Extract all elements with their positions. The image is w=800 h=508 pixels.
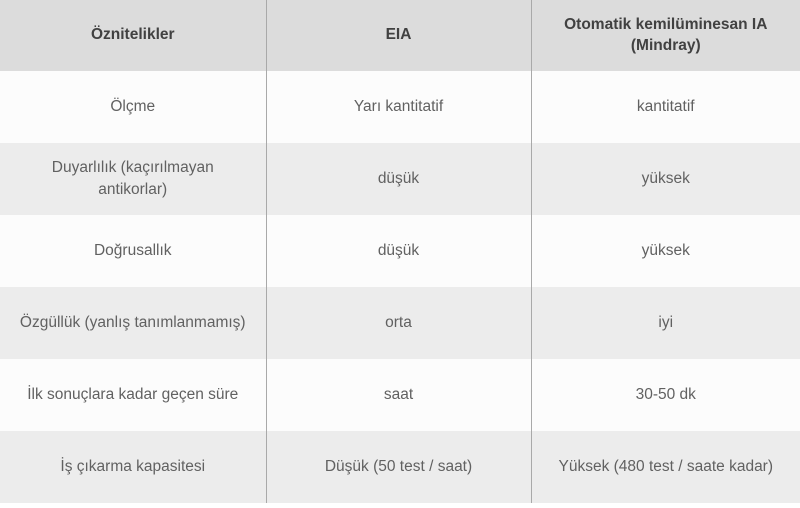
table-header: Öznitelikler EIA Otomatik kemilüminesan …: [0, 0, 800, 71]
cell-clia: iyi: [531, 287, 800, 359]
column-header-attribute: Öznitelikler: [0, 0, 266, 71]
cell-attribute: Duyarlılık (kaçırılmayan antikorlar): [0, 143, 266, 215]
cell-clia: Yüksek (480 test / saate kadar): [531, 431, 800, 503]
table-row: Duyarlılık (kaçırılmayan antikorlar) düş…: [0, 143, 800, 215]
cell-attribute: Özgüllük (yanlış tanımlanmamış): [0, 287, 266, 359]
cell-attribute: Ölçme: [0, 71, 266, 143]
cell-eia: Düşük (50 test / saat): [266, 431, 531, 503]
column-header-clia: Otomatik kemilüminesan IA (Mindray): [531, 0, 800, 71]
column-header-eia: EIA: [266, 0, 531, 71]
cell-eia: Yarı kantitatif: [266, 71, 531, 143]
table-header-row: Öznitelikler EIA Otomatik kemilüminesan …: [0, 0, 800, 71]
table-row: İlk sonuçlara kadar geçen süre saat 30-5…: [0, 359, 800, 431]
cell-clia: 30-50 dk: [531, 359, 800, 431]
cell-attribute: İş çıkarma kapasitesi: [0, 431, 266, 503]
cell-eia: orta: [266, 287, 531, 359]
cell-clia: kantitatif: [531, 71, 800, 143]
cell-clia: yüksek: [531, 143, 800, 215]
cell-clia: yüksek: [531, 215, 800, 287]
table-row: Özgüllük (yanlış tanımlanmamış) orta iyi: [0, 287, 800, 359]
table-row: Ölçme Yarı kantitatif kantitatif: [0, 71, 800, 143]
table-body: Ölçme Yarı kantitatif kantitatif Duyarlı…: [0, 71, 800, 503]
cell-eia: saat: [266, 359, 531, 431]
comparison-table: Öznitelikler EIA Otomatik kemilüminesan …: [0, 0, 800, 503]
cell-attribute: İlk sonuçlara kadar geçen süre: [0, 359, 266, 431]
cell-eia: düşük: [266, 215, 531, 287]
cell-attribute: Doğrusallık: [0, 215, 266, 287]
table-row: İş çıkarma kapasitesi Düşük (50 test / s…: [0, 431, 800, 503]
cell-eia: düşük: [266, 143, 531, 215]
table-row: Doğrusallık düşük yüksek: [0, 215, 800, 287]
